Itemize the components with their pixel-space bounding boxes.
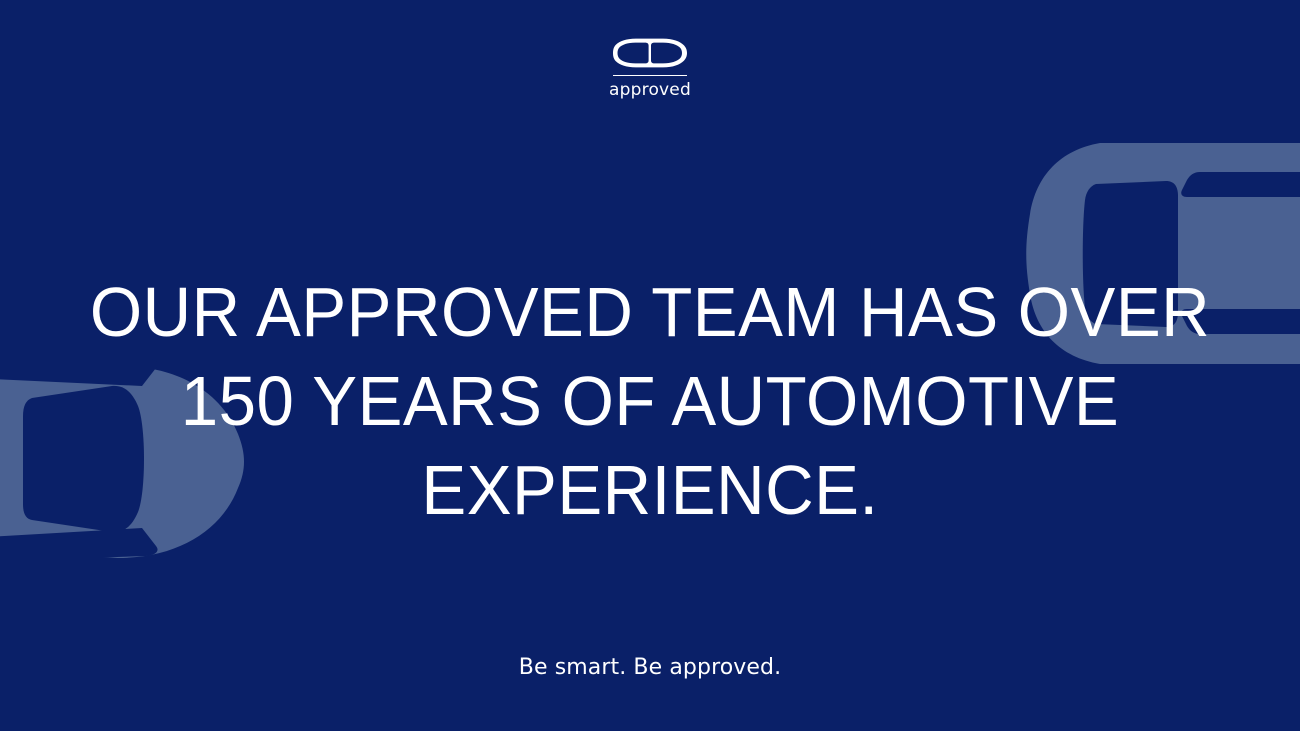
logo-wordmark: approved (609, 81, 691, 100)
brand-logo[interactable]: approved (0, 38, 1300, 100)
tagline: Be smart. Be approved. (0, 655, 1300, 680)
headline-line-1: OUR APPROVED TEAM HAS OVER (84, 268, 1217, 357)
logo-divider (613, 75, 687, 76)
headline-line-2: 150 YEARS OF AUTOMOTIVE (84, 357, 1217, 446)
page-title: OUR APPROVED TEAM HAS OVER 150 YEARS OF … (84, 268, 1217, 535)
banner-canvas: approved OUR APPROVED TEAM HAS OVER 150 … (0, 0, 1300, 731)
car-top-view-icon (613, 38, 687, 68)
headline-line-3: EXPERIENCE. (84, 446, 1217, 535)
